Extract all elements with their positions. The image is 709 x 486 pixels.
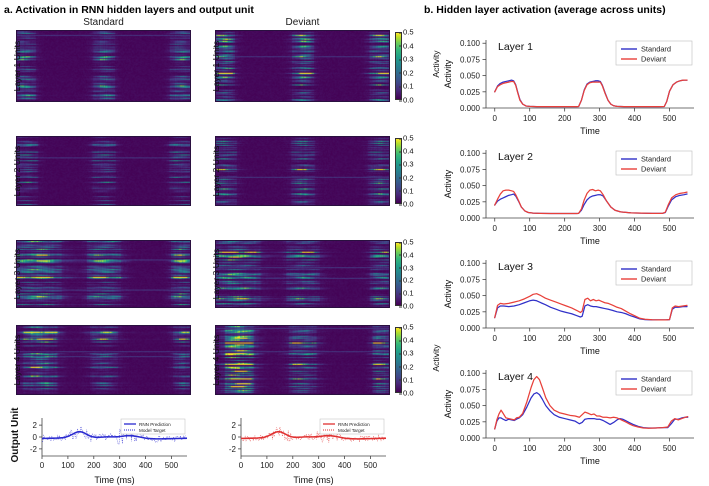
svg-text:-2: -2 — [30, 445, 38, 454]
svg-text:2: 2 — [33, 421, 38, 430]
colorbar-tick: 0.5 — [403, 134, 414, 143]
heatmap-standard-layer-2 — [16, 136, 191, 206]
svg-text:0: 0 — [33, 433, 38, 442]
heatmap-standard-layer-3 — [16, 240, 191, 308]
colorbar-tick: 0.4 — [403, 147, 414, 156]
heatmap-ylabel-standard-layer-2: Layer 2 Units — [12, 136, 22, 206]
svg-text:0.100: 0.100 — [460, 39, 481, 48]
colorbar-tick: 0.4 — [403, 41, 414, 50]
svg-text:300: 300 — [312, 461, 326, 470]
svg-text:Time (ms): Time (ms) — [94, 475, 134, 485]
output-unit-ylabel: Output Unit — [10, 406, 21, 464]
colorbar-tick: 0.0 — [403, 302, 414, 311]
svg-text:0.075: 0.075 — [460, 385, 481, 394]
svg-text:Layer 3: Layer 3 — [498, 261, 533, 273]
colorbar-tick: 0.3 — [403, 160, 414, 169]
svg-text:Standard: Standard — [641, 265, 671, 274]
colorbar-layer-1: 0.50.40.30.20.10.0 — [395, 32, 435, 100]
svg-text:0: 0 — [239, 461, 244, 470]
colorbar-layer-2: 0.50.40.30.20.10.0 — [395, 138, 435, 204]
svg-text:0.050: 0.050 — [460, 292, 481, 301]
colorbar-layer-3: 0.50.40.30.20.10.0 — [395, 242, 435, 306]
svg-text:Model Target: Model Target — [338, 428, 365, 433]
heatmap-ylabel-standard-layer-4: Layer 4 Units — [12, 325, 22, 395]
svg-text:0.050: 0.050 — [460, 182, 481, 191]
svg-text:500: 500 — [663, 444, 677, 453]
layer-activation-chart-3: 0.0000.0250.0500.0750.100010020030040050… — [440, 248, 702, 358]
column-header-deviant: Deviant — [215, 17, 390, 28]
svg-text:200: 200 — [558, 444, 572, 453]
svg-text:0.000: 0.000 — [460, 434, 481, 443]
colorbar-tick: 0.2 — [403, 68, 414, 77]
svg-text:400: 400 — [628, 224, 642, 233]
svg-text:400: 400 — [628, 334, 642, 343]
colorbar-gradient — [395, 138, 402, 204]
svg-text:0.025: 0.025 — [460, 308, 481, 317]
svg-text:0.100: 0.100 — [460, 259, 481, 268]
column-header-standard: Standard — [16, 17, 191, 28]
svg-text:400: 400 — [338, 461, 352, 470]
svg-text:RNN Prediction: RNN Prediction — [338, 422, 370, 427]
svg-text:0.050: 0.050 — [460, 402, 481, 411]
heatmap-ylabel-deviant-layer-3: Layer 3 Units — [211, 240, 221, 308]
svg-text:100: 100 — [260, 461, 274, 470]
colorbar-tick: 0.1 — [403, 375, 414, 384]
colorbar-tick: 0.1 — [403, 289, 414, 298]
colorbar-tick: 0.0 — [403, 389, 414, 398]
heatmap-ylabel-standard-layer-1: Layer 1 Units — [12, 30, 22, 102]
svg-text:200: 200 — [87, 461, 101, 470]
svg-text:Layer 1: Layer 1 — [498, 41, 533, 53]
colorbar-tick: 0.1 — [403, 186, 414, 195]
svg-text:0: 0 — [493, 444, 498, 453]
svg-text:2: 2 — [232, 421, 237, 430]
svg-text:400: 400 — [628, 114, 642, 123]
svg-text:400: 400 — [628, 444, 642, 453]
svg-text:500: 500 — [663, 334, 677, 343]
heatmap-standard-layer-1 — [16, 30, 191, 102]
svg-text:Deviant: Deviant — [641, 165, 666, 174]
heatmap-deviant-layer-3 — [215, 240, 390, 308]
svg-text:200: 200 — [558, 114, 572, 123]
layer-activation-chart-2: 0.0000.0250.0500.0750.100010020030040050… — [440, 138, 702, 248]
svg-text:Deviant: Deviant — [641, 55, 666, 64]
colorbar-tick: 0.3 — [403, 55, 414, 64]
heatmap-deviant-layer-1 — [215, 30, 390, 102]
svg-text:Model Target: Model Target — [139, 428, 166, 433]
svg-text:0.100: 0.100 — [460, 149, 481, 158]
colorbar-tick: 0.5 — [403, 238, 414, 247]
svg-text:200: 200 — [286, 461, 300, 470]
svg-text:Standard: Standard — [641, 45, 671, 54]
colorbar-layer-4: 0.50.40.30.20.10.0 — [395, 327, 435, 393]
colorbar-tick: 0.2 — [403, 276, 414, 285]
output-unit-plot-standard: 010020030040050020-2 RNN PredictionModel… — [16, 408, 191, 486]
svg-text:0.000: 0.000 — [460, 324, 481, 333]
colorbar-tick: 0.3 — [403, 349, 414, 358]
colorbar-tick: 0.5 — [403, 323, 414, 332]
svg-text:0.075: 0.075 — [460, 275, 481, 284]
svg-text:RNN Prediction: RNN Prediction — [139, 422, 171, 427]
svg-text:0.050: 0.050 — [460, 72, 481, 81]
svg-text:Activity: Activity — [443, 169, 453, 198]
svg-text:400: 400 — [139, 461, 153, 470]
colorbar-tick: 0.0 — [403, 96, 414, 105]
svg-text:0.025: 0.025 — [460, 198, 481, 207]
heatmap-standard-layer-4 — [16, 325, 191, 395]
svg-text:0: 0 — [493, 224, 498, 233]
colorbar-gradient — [395, 242, 402, 306]
svg-text:Layer 4: Layer 4 — [498, 371, 533, 383]
panel-a-title: a. Activation in RNN hidden layers and o… — [4, 4, 254, 16]
svg-text:0.025: 0.025 — [460, 418, 481, 427]
colorbar-gradient — [395, 32, 402, 100]
heatmap-ylabel-standard-layer-3: Layer 3 Units — [12, 240, 22, 308]
svg-text:Layer 2: Layer 2 — [498, 151, 533, 163]
svg-text:100: 100 — [523, 334, 537, 343]
svg-text:200: 200 — [558, 224, 572, 233]
svg-text:Standard: Standard — [641, 375, 671, 384]
output-unit-plot-deviant: 010020030040050020-2 RNN PredictionModel… — [215, 408, 390, 486]
svg-text:0.000: 0.000 — [460, 104, 481, 113]
layer-activation-chart-4: 0.0000.0250.0500.0750.100010020030040050… — [440, 358, 702, 468]
svg-text:Activity: Activity — [443, 279, 453, 308]
heatmap-deviant-layer-4 — [215, 325, 390, 395]
svg-text:300: 300 — [593, 334, 607, 343]
svg-text:200: 200 — [558, 334, 572, 343]
svg-text:0: 0 — [232, 433, 237, 442]
colorbar-gradient — [395, 327, 402, 393]
svg-text:Deviant: Deviant — [641, 385, 666, 394]
svg-text:300: 300 — [593, 444, 607, 453]
svg-text:Activity: Activity — [443, 389, 453, 418]
svg-text:300: 300 — [593, 224, 607, 233]
svg-text:Time: Time — [580, 456, 600, 466]
svg-text:0.025: 0.025 — [460, 88, 481, 97]
svg-text:Deviant: Deviant — [641, 275, 666, 284]
svg-text:Activity: Activity — [443, 59, 453, 88]
svg-text:Time: Time — [580, 236, 600, 246]
svg-text:Time (ms): Time (ms) — [293, 475, 333, 485]
layer-activation-chart-1: 0.0000.0250.0500.0750.100010020030040050… — [440, 28, 702, 138]
panel-b-title: b. Hidden layer activation (average acro… — [424, 4, 666, 16]
svg-text:100: 100 — [523, 444, 537, 453]
colorbar-tick: 0.1 — [403, 82, 414, 91]
svg-text:500: 500 — [663, 114, 677, 123]
svg-text:100: 100 — [523, 224, 537, 233]
heatmap-ylabel-deviant-layer-1: Layer 1 Units — [211, 30, 221, 102]
svg-text:0: 0 — [40, 461, 45, 470]
colorbar-tick: 0.0 — [403, 200, 414, 209]
svg-text:0.000: 0.000 — [460, 214, 481, 223]
heatmap-ylabel-deviant-layer-4: Layer 4 Units — [211, 325, 221, 395]
heatmap-deviant-layer-2 — [215, 136, 390, 206]
svg-text:100: 100 — [523, 114, 537, 123]
svg-text:0: 0 — [493, 114, 498, 123]
svg-text:300: 300 — [113, 461, 127, 470]
svg-text:0: 0 — [493, 334, 498, 343]
svg-text:0.100: 0.100 — [460, 369, 481, 378]
svg-text:500: 500 — [663, 224, 677, 233]
colorbar-tick: 0.3 — [403, 263, 414, 272]
svg-text:0.075: 0.075 — [460, 55, 481, 64]
colorbar-tick: 0.4 — [403, 336, 414, 345]
svg-text:300: 300 — [593, 114, 607, 123]
svg-text:Time: Time — [580, 126, 600, 136]
svg-text:Standard: Standard — [641, 155, 671, 164]
colorbar-tick: 0.5 — [403, 28, 414, 37]
svg-text:Time: Time — [580, 346, 600, 356]
colorbar-tick: 0.2 — [403, 173, 414, 182]
svg-text:500: 500 — [364, 461, 378, 470]
colorbar-tick: 0.2 — [403, 362, 414, 371]
svg-text:100: 100 — [61, 461, 75, 470]
svg-text:500: 500 — [165, 461, 179, 470]
heatmap-ylabel-deviant-layer-2: Layer 2 Units — [211, 136, 221, 206]
svg-text:0.075: 0.075 — [460, 165, 481, 174]
colorbar-tick: 0.4 — [403, 250, 414, 259]
svg-text:-2: -2 — [229, 445, 237, 454]
